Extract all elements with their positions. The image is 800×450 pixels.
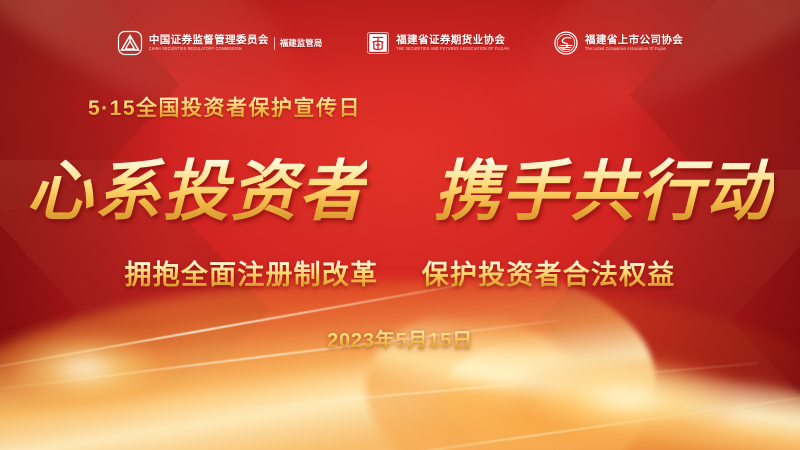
logo-name-en: The Listed Companies Association Of Fuji… (585, 47, 683, 51)
logo-name-cn: 福建省证券期货业协会 (396, 35, 509, 46)
logo-csrc-fujian: 中国证券监督管理委员会 CHINA SECURITIES REGULATORY … (117, 30, 322, 56)
logo-name-cn: 中国证券监督管理委员会 (149, 35, 269, 46)
logo-fujian-securities-futures-association: 福建省证券期货业协会 THE SECURITIES AND FUTURES AS… (366, 31, 509, 55)
logo-fujian-listed-companies-association: 福建省上市公司协会 The Listed Companies Associati… (553, 30, 683, 56)
logo-name-cn: 福建省上市公司协会 (585, 35, 683, 46)
event-date: 2023年5月15日 (0, 324, 800, 353)
logo-divider (274, 37, 275, 50)
poster-content: 中国证券监督管理委员会 CHINA SECURITIES REGULATORY … (0, 0, 800, 450)
headline-part-1: 心系投资者 (27, 156, 367, 229)
tagline-part-2: 保护投资者合法权益 (422, 260, 676, 290)
fujian-securities-futures-seal-icon (366, 31, 390, 55)
logo-name-en: CHINA SECURITIES REGULATORY COMMISSION (149, 47, 269, 51)
fujian-listed-companies-emblem-icon (553, 30, 579, 56)
poster-canvas: 中国证券监督管理委员会 CHINA SECURITIES REGULATORY … (0, 0, 800, 450)
sponsor-logo-row: 中国证券监督管理委员会 CHINA SECURITIES REGULATORY … (0, 30, 800, 56)
tagline: 拥抱全面注册制改革 保护投资者合法权益 (0, 253, 800, 292)
main-headline: 心系投资者 携手共行动 (0, 138, 800, 234)
headline-part-2: 携手共行动 (434, 156, 774, 229)
logo-name-en: THE SECURITIES AND FUTURES ASSOCIATION O… (396, 47, 509, 51)
tagline-part-1: 拥抱全面注册制改革 (124, 260, 378, 290)
logo-sub-cn: 福建监管局 (280, 37, 323, 49)
event-eyebrow: 5·15全国投资者保护宣传日 (88, 92, 361, 122)
csrc-emblem-icon (117, 30, 143, 56)
